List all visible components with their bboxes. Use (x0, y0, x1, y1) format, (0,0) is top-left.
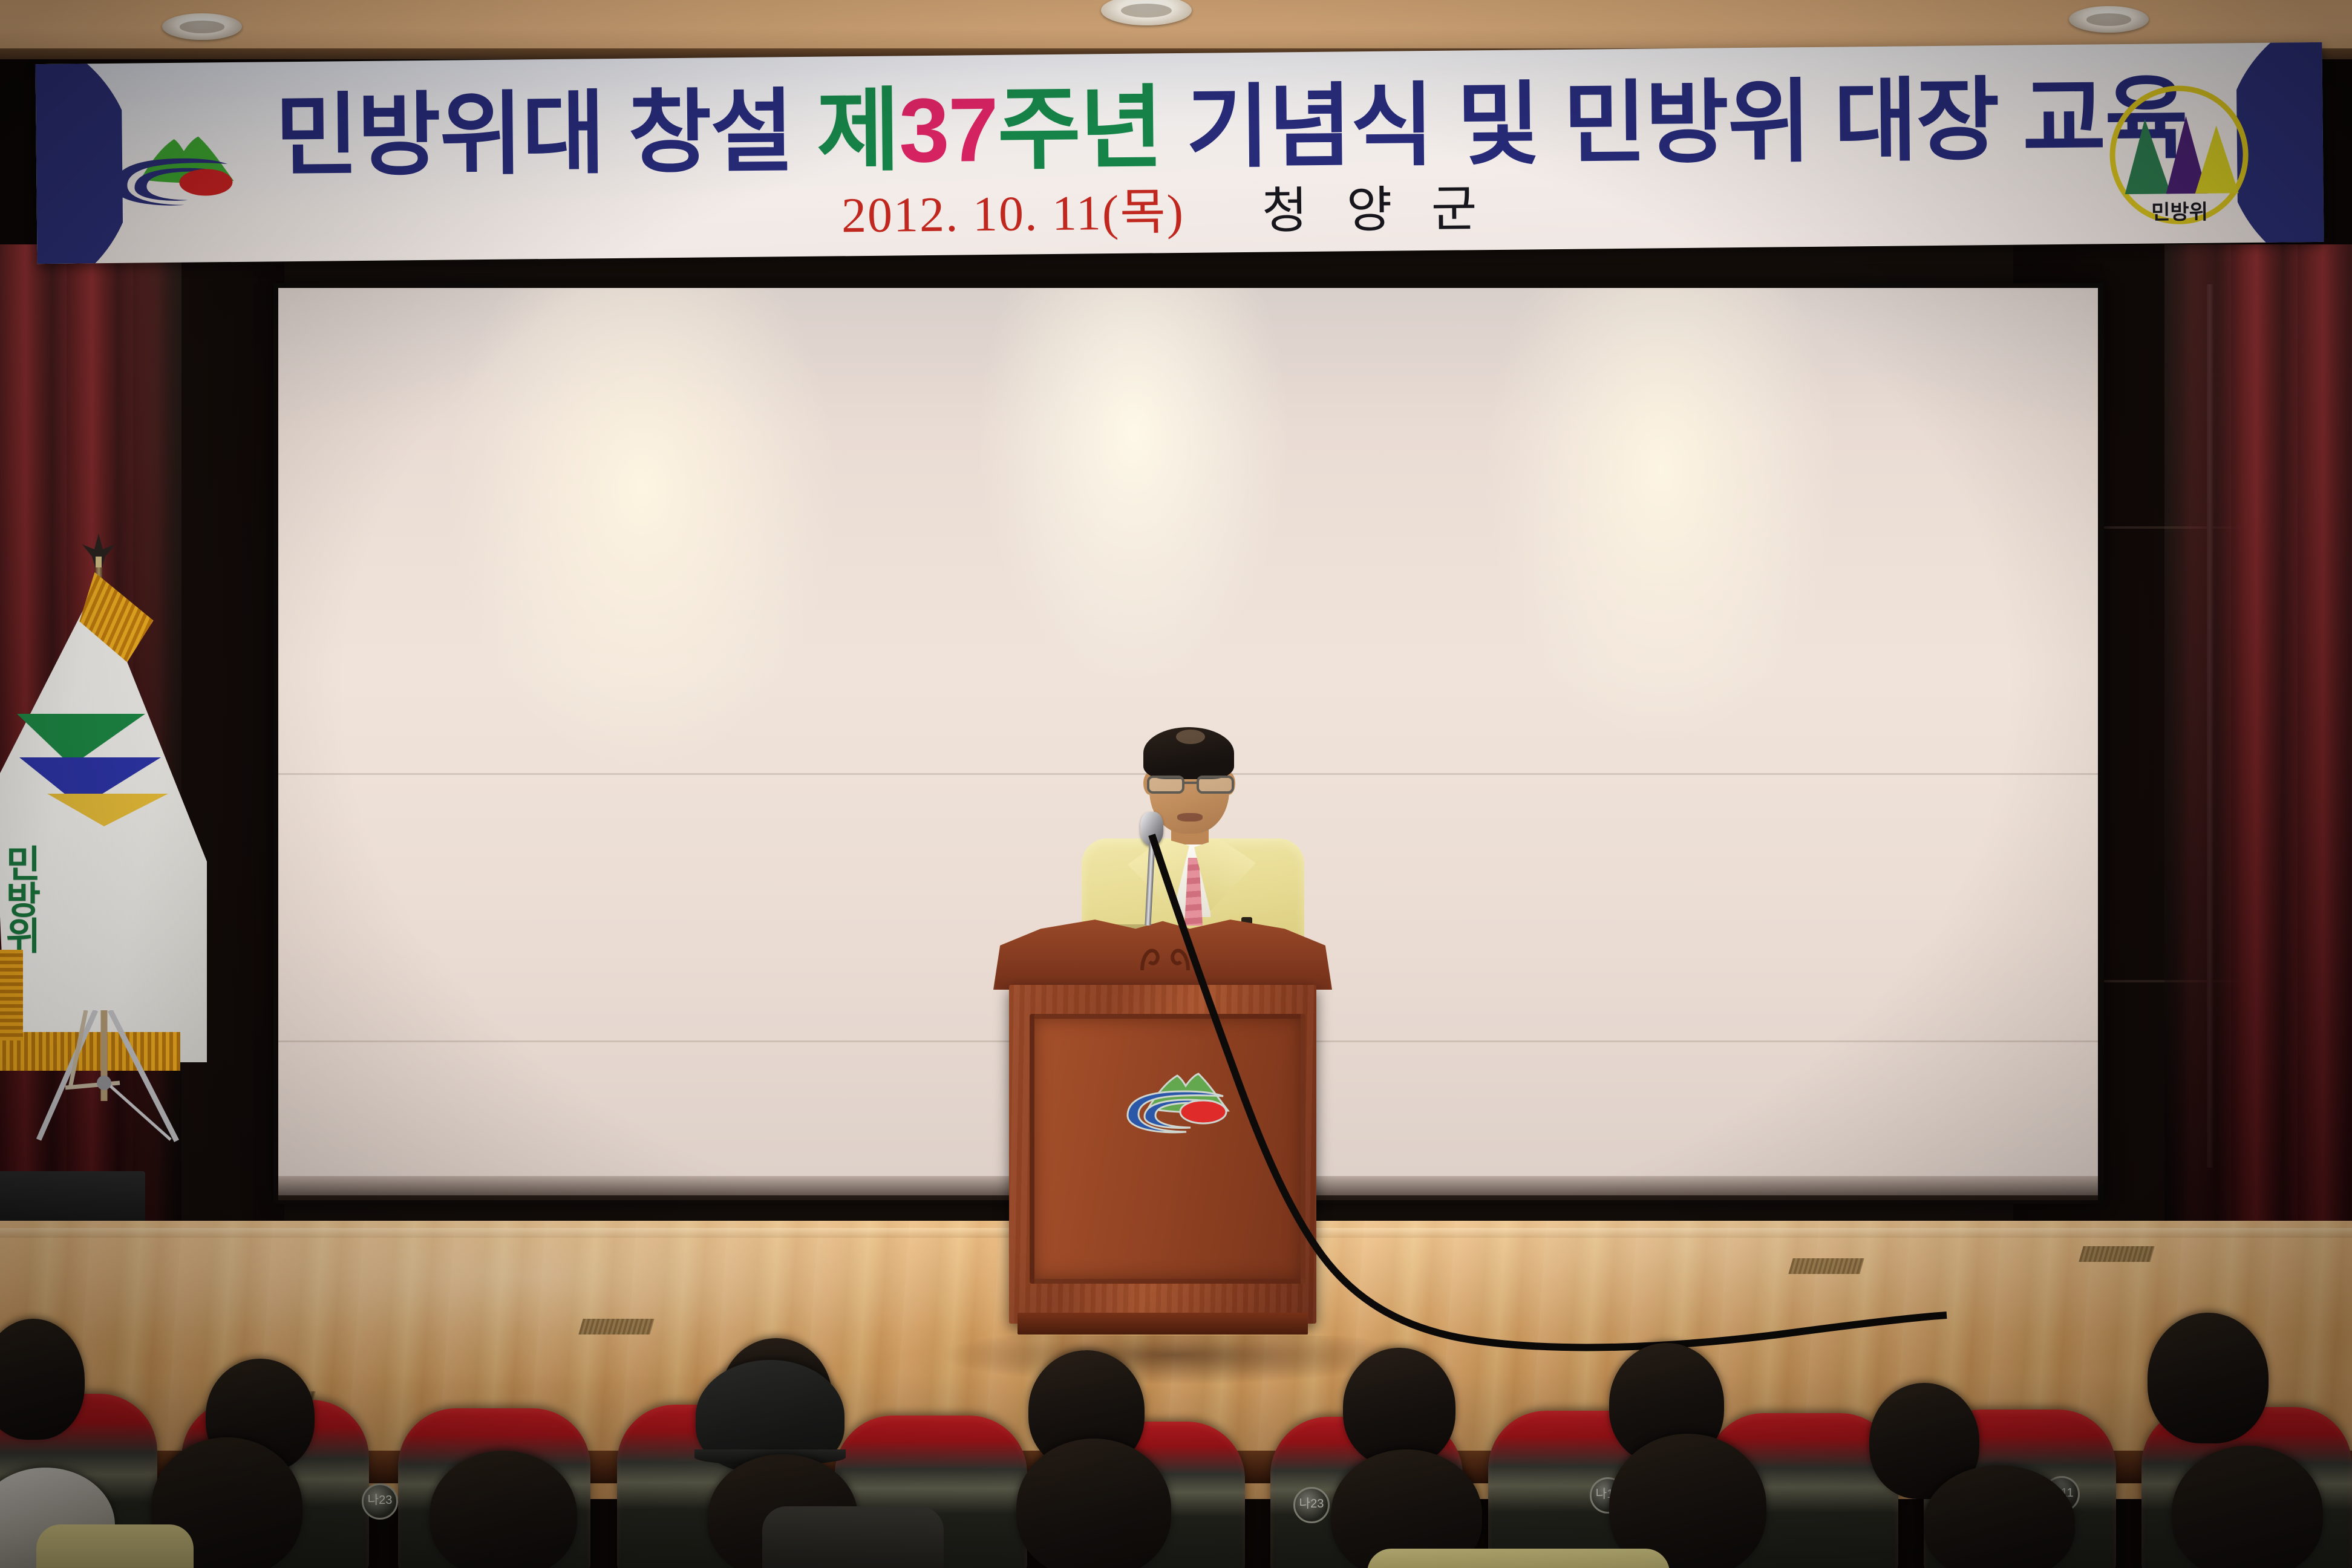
ceremonial-flag: 민방위 (0, 532, 254, 1155)
audience-head (430, 1451, 577, 1568)
glasses-icon (1145, 772, 1236, 796)
microphone-icon (1140, 812, 1163, 846)
flag-emblem-icon (13, 687, 171, 826)
audience-head (1609, 1434, 1766, 1568)
banner-date: 2012. 10. 11(목) (841, 185, 1185, 243)
audience-head (1016, 1439, 1171, 1568)
floor-vent-grille (2079, 1246, 2154, 1262)
seat-number-badge: 나23 (1293, 1487, 1330, 1523)
podium-scroll-ornament-icon (1136, 941, 1194, 974)
flag-label: 민방위 (6, 847, 64, 955)
civil-defense-logo-label: 민방위 (2151, 201, 2208, 224)
speaker-mouth (1177, 813, 1203, 822)
ceiling-light-icon (162, 13, 242, 40)
banner-title-part-rest: 기념식 및 민방위 대장 교육 (1161, 67, 2187, 178)
podium-county-emblem-icon (1124, 1060, 1239, 1138)
audience-shoulder (762, 1506, 944, 1568)
audience-head (2148, 1313, 2269, 1443)
banner-title-part-1: 민방위대 창설 (275, 80, 817, 188)
flag-stand-tripod (28, 1010, 234, 1155)
flag-fringe-left (0, 950, 23, 1040)
banner-title-part-37: 37 (898, 79, 998, 181)
curtain-sheen (2164, 244, 2352, 1249)
banner-title-part-je: 제 (816, 79, 900, 181)
auditorium-photo: 민방위대 창설 제37주년 기념식 및 민방위 대장 교육 2012. 10. … (0, 0, 2352, 1568)
banner-organization: 청 양 군 (1262, 181, 1491, 239)
banner-title-part-year: 주년 (997, 77, 1163, 180)
cheongyang-county-logo-icon (108, 120, 248, 212)
audience-shoulder (1367, 1549, 1670, 1568)
event-banner: 민방위대 창설 제37주년 기념식 및 민방위 대장 교육 2012. 10. … (36, 42, 2324, 264)
banner-subtitle: 2012. 10. 11(목)청 양 군 (841, 183, 1689, 240)
audience-shoulder (36, 1524, 194, 1568)
ceiling-light-icon (2069, 6, 2149, 33)
podium-front-panel (1030, 1014, 1305, 1284)
audience-head (0, 1319, 85, 1440)
banner-title: 민방위대 창설 제37주년 기념식 및 민방위 대장 교육 (275, 75, 1945, 181)
floor-vent-grille (1788, 1258, 1864, 1274)
audience-area: 나23 나12 나23 나11 (0, 1325, 2352, 1568)
seat-number-badge: 나23 (362, 1483, 398, 1520)
civil-defense-logo-icon: 민방위 (2100, 80, 2258, 233)
audience-head (1343, 1348, 1455, 1466)
